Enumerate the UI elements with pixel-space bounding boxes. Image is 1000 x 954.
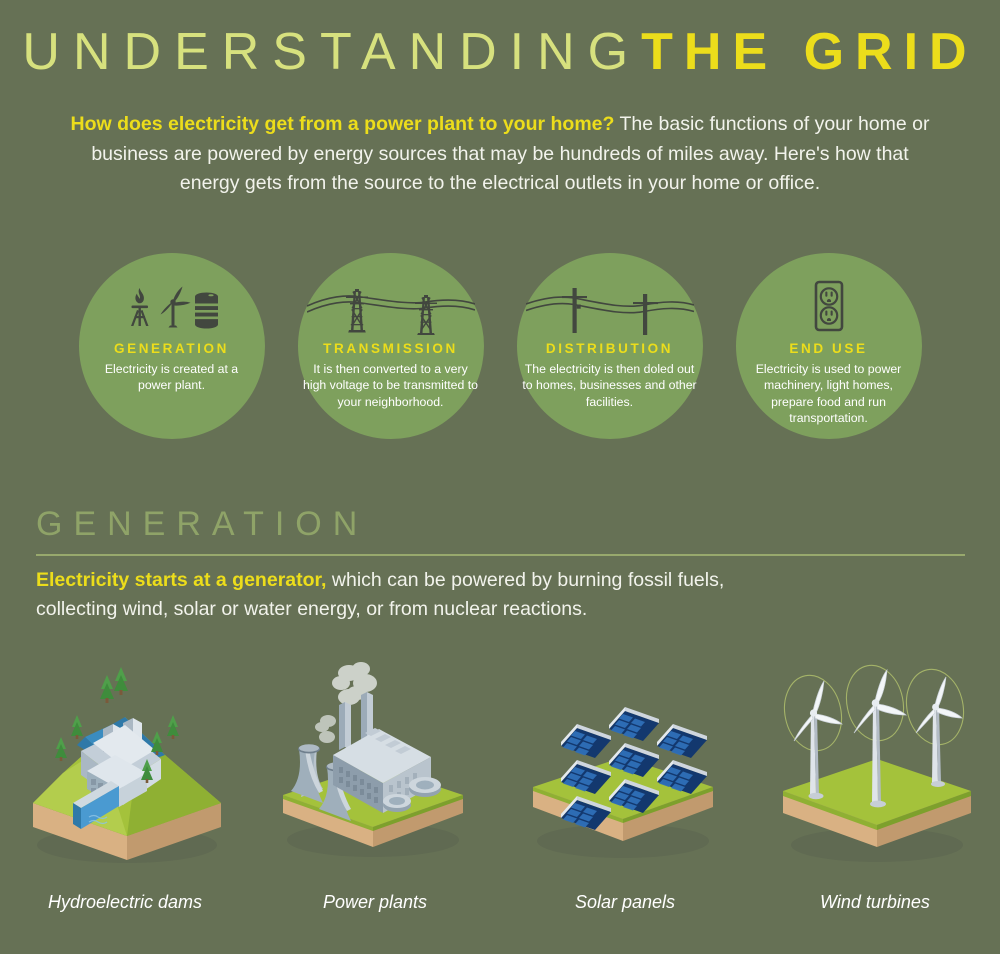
distribution-poles-icon <box>526 281 694 337</box>
illustration-label: Solar panels <box>575 892 675 913</box>
section-heading-generation: GENERATION <box>36 505 368 544</box>
step-body: The electricity is then doled out to hom… <box>521 361 699 410</box>
step-body: Electricity is used to power machinery, … <box>745 361 913 426</box>
step-body: It is then converted to a very high volt… <box>302 361 480 410</box>
page-title: UNDERSTANDINGTHE GRID <box>0 0 1000 78</box>
generation-icon <box>126 281 218 337</box>
step-title: GENERATION <box>114 341 229 356</box>
step-circle-end-use[interactable]: END USE Electricity is used to power mac… <box>736 253 922 439</box>
page-title-light: UNDERSTANDING <box>22 23 641 81</box>
process-steps: GENERATION Electricity is created at a p… <box>0 253 1000 439</box>
illustration-label: Hydroelectric dams <box>48 892 202 913</box>
illustration-label: Power plants <box>323 892 427 913</box>
step-circle-transmission[interactable]: TRANSMISSION It is then converted to a v… <box>298 253 484 439</box>
step-title: DISTRIBUTION <box>546 341 673 356</box>
page-title-bold: THE GRID <box>641 23 977 81</box>
power-plant-illustration <box>265 655 485 870</box>
intro-paragraph: How does electricity get from a power pl… <box>60 110 940 199</box>
illustration-wind-turbines[interactable]: Wind turbines <box>750 655 1000 913</box>
hydroelectric-dam-illustration <box>15 655 235 870</box>
step-title: TRANSMISSION <box>323 341 458 356</box>
step-circle-generation[interactable]: GENERATION Electricity is created at a p… <box>79 253 265 439</box>
step-circle-distribution[interactable]: DISTRIBUTION The electricity is then dol… <box>517 253 703 439</box>
intro-lead: How does electricity get from a power pl… <box>71 113 615 135</box>
solar-panels-illustration <box>515 655 735 870</box>
wall-outlet-icon <box>807 281 851 337</box>
wind-turbines-illustration <box>765 655 985 870</box>
section-divider <box>36 554 965 556</box>
step-title: END USE <box>789 341 867 356</box>
transmission-towers-icon <box>307 281 475 337</box>
generation-illustrations: Hydroelectric dams <box>0 655 1000 913</box>
section-lead: Electricity starts at a generator, <box>36 569 326 591</box>
illustration-hydroelectric-dams[interactable]: Hydroelectric dams <box>0 655 250 913</box>
illustration-power-plants[interactable]: Power plants <box>250 655 500 913</box>
illustration-solar-panels[interactable]: Solar panels <box>500 655 750 913</box>
step-body: Electricity is created at a power plant. <box>88 361 256 394</box>
section-paragraph: Electricity starts at a generator, which… <box>36 566 736 625</box>
illustration-label: Wind turbines <box>820 892 930 913</box>
